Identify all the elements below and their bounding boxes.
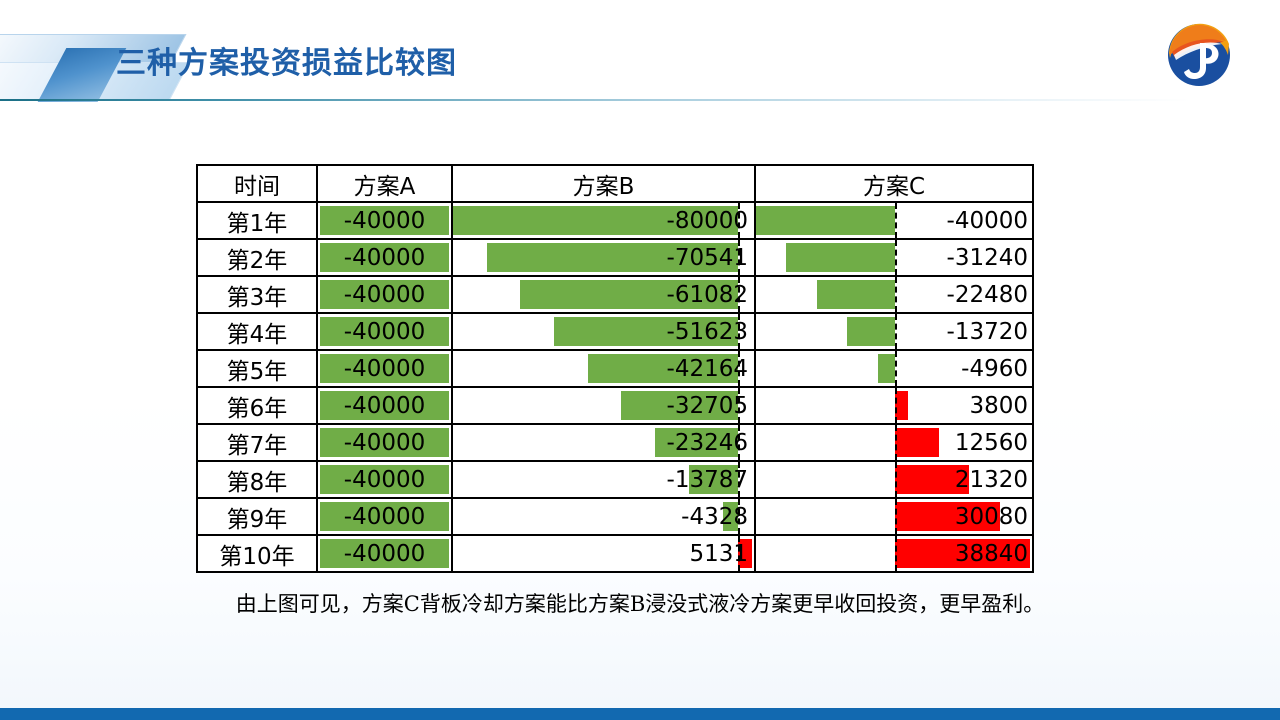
table-row: 第10年-40000513138840 — [197, 535, 1033, 572]
row-label-year: 第6年 — [197, 387, 317, 424]
column-header-plan-a: 方案A — [317, 165, 452, 202]
data-bar-cell-b: -61082 — [452, 276, 755, 313]
data-bar-cell-a: -40000 — [317, 202, 452, 239]
slide-caption: 由上图可见，方案C背板冷却方案能比方案B浸没式液冷方案更早收回投资，更早盈利。 — [0, 588, 1280, 618]
zero-axis-line — [895, 462, 897, 497]
slide-header: 三种方案投资损益比较图 — [0, 0, 1280, 104]
column-header-plan-c: 方案C — [755, 165, 1033, 202]
data-bar-value: -4328 — [453, 499, 754, 534]
zero-axis-line — [738, 203, 740, 238]
row-label-year: 第2年 — [197, 239, 317, 276]
data-bar-cell-a: -40000 — [317, 239, 452, 276]
row-label-year: 第8年 — [197, 461, 317, 498]
zero-axis-line — [738, 277, 740, 312]
table-row: 第9年-40000-432830080 — [197, 498, 1033, 535]
negative-data-bar — [554, 317, 738, 346]
table-body: 第1年-40000-80000-40000第2年-40000-70541-312… — [197, 202, 1033, 572]
data-bar-cell-b: -32705 — [452, 387, 755, 424]
zero-axis-line — [738, 388, 740, 423]
negative-data-bar — [878, 354, 895, 383]
data-bar-value: 21320 — [756, 462, 1032, 497]
negative-data-bar — [817, 280, 895, 309]
table-row: 第7年-40000-2324612560 — [197, 424, 1033, 461]
table-row: 第6年-40000-327053800 — [197, 387, 1033, 424]
zero-axis-line — [895, 351, 897, 386]
data-bar-cell-c: 30080 — [755, 498, 1033, 535]
negative-data-bar — [320, 280, 449, 309]
zero-axis-line — [738, 462, 740, 497]
data-bar-cell-a: -40000 — [317, 276, 452, 313]
data-bar-cell-b: -4328 — [452, 498, 755, 535]
zero-axis-line — [895, 425, 897, 460]
positive-data-bar — [895, 502, 1000, 531]
data-bar-cell-a: -40000 — [317, 461, 452, 498]
negative-data-bar — [320, 243, 449, 272]
column-header-plan-b: 方案B — [452, 165, 755, 202]
zero-axis-line — [895, 240, 897, 275]
data-bar-cell-a: -40000 — [317, 498, 452, 535]
negative-data-bar — [621, 391, 738, 420]
data-bar-cell-a: -40000 — [317, 313, 452, 350]
zero-axis-line — [895, 536, 897, 571]
data-bar-value: 5131 — [453, 536, 754, 571]
negative-data-bar — [847, 317, 895, 346]
table-header-row: 时间 方案A 方案B 方案C — [197, 165, 1033, 202]
negative-data-bar — [453, 206, 738, 235]
row-label-year: 第9年 — [197, 498, 317, 535]
data-bar-cell-b: -23246 — [452, 424, 755, 461]
investment-comparison-table: 时间 方案A 方案B 方案C 第1年-40000-80000-40000第2年-… — [196, 164, 1034, 573]
negative-data-bar — [756, 206, 895, 235]
positive-data-bar — [895, 465, 969, 494]
negative-data-bar — [320, 317, 449, 346]
zero-axis-line — [895, 277, 897, 312]
data-bar-cell-a: -40000 — [317, 535, 452, 572]
row-label-year: 第5年 — [197, 350, 317, 387]
zero-axis-line — [738, 536, 740, 571]
table-row: 第3年-40000-61082-22480 — [197, 276, 1033, 313]
negative-data-bar — [320, 391, 449, 420]
data-bar-cell-c: -40000 — [755, 202, 1033, 239]
data-bar-cell-a: -40000 — [317, 424, 452, 461]
page-title: 三种方案投资损益比较图 — [116, 38, 457, 82]
data-bar-value: 3800 — [756, 388, 1032, 423]
negative-data-bar — [723, 502, 738, 531]
company-logo — [1166, 22, 1232, 88]
table-row: 第8年-40000-1378721320 — [197, 461, 1033, 498]
row-label-year: 第7年 — [197, 424, 317, 461]
data-bar-value: 12560 — [756, 425, 1032, 460]
negative-data-bar — [689, 465, 738, 494]
row-label-year: 第1年 — [197, 202, 317, 239]
data-bar-cell-b: -51623 — [452, 313, 755, 350]
data-bar-cell-a: -40000 — [317, 387, 452, 424]
data-bar-cell-c: 12560 — [755, 424, 1033, 461]
zero-axis-line — [895, 388, 897, 423]
data-bar-cell-c: 21320 — [755, 461, 1033, 498]
data-bar-cell-b: -80000 — [452, 202, 755, 239]
positive-data-bar — [895, 428, 939, 457]
data-bar-cell-c: -22480 — [755, 276, 1033, 313]
data-bar-cell-c: -4960 — [755, 350, 1033, 387]
header-divider — [0, 99, 1190, 101]
data-bar-cell-c: -13720 — [755, 313, 1033, 350]
table-row: 第2年-40000-70541-31240 — [197, 239, 1033, 276]
negative-data-bar — [520, 280, 738, 309]
zero-axis-line — [895, 499, 897, 534]
comparison-table-wrapper: 时间 方案A 方案B 方案C 第1年-40000-80000-40000第2年-… — [196, 164, 1032, 573]
slide: 三种方案投资损益比较图 时间 方案A — [0, 0, 1280, 720]
table-row: 第4年-40000-51623-13720 — [197, 313, 1033, 350]
data-bar-cell-b: -70541 — [452, 239, 755, 276]
positive-data-bar — [738, 539, 752, 568]
negative-data-bar — [786, 243, 895, 272]
negative-data-bar — [320, 465, 449, 494]
zero-axis-line — [738, 425, 740, 460]
row-label-year: 第3年 — [197, 276, 317, 313]
data-bar-cell-c: -31240 — [755, 239, 1033, 276]
positive-data-bar — [895, 539, 1030, 568]
zero-axis-line — [895, 203, 897, 238]
data-bar-cell-c: 38840 — [755, 535, 1033, 572]
negative-data-bar — [320, 502, 449, 531]
zero-axis-line — [738, 499, 740, 534]
data-bar-cell-b: -42164 — [452, 350, 755, 387]
negative-data-bar — [588, 354, 738, 383]
data-bar-cell-a: -40000 — [317, 350, 452, 387]
row-label-year: 第4年 — [197, 313, 317, 350]
zero-axis-line — [738, 240, 740, 275]
negative-data-bar — [320, 354, 449, 383]
data-bar-cell-c: 3800 — [755, 387, 1033, 424]
data-bar-cell-b: -13787 — [452, 461, 755, 498]
negative-data-bar — [320, 539, 449, 568]
column-header-time: 时间 — [197, 165, 317, 202]
zero-axis-line — [738, 314, 740, 349]
bottom-accent-strip — [0, 708, 1280, 720]
negative-data-bar — [320, 428, 449, 457]
negative-data-bar — [487, 243, 738, 272]
data-bar-cell-b: 5131 — [452, 535, 755, 572]
negative-data-bar — [320, 206, 449, 235]
table-row: 第5年-40000-42164-4960 — [197, 350, 1033, 387]
row-label-year: 第10年 — [197, 535, 317, 572]
zero-axis-line — [895, 314, 897, 349]
negative-data-bar — [655, 428, 738, 457]
table-row: 第1年-40000-80000-40000 — [197, 202, 1033, 239]
zero-axis-line — [738, 351, 740, 386]
